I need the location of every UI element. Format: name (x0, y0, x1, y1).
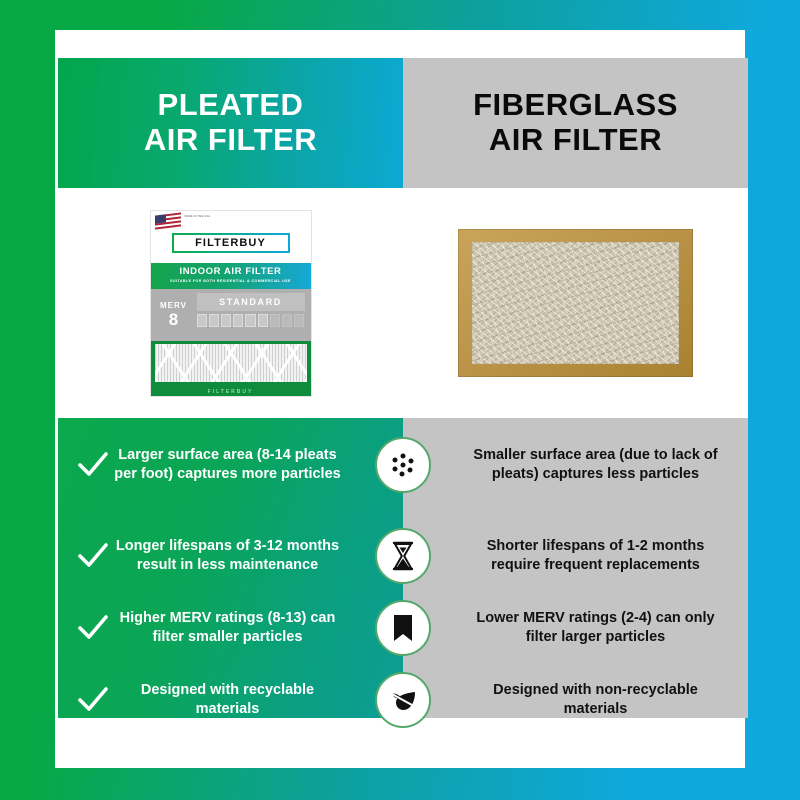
pleated-box-top: MADE IN THE USA FILTERBUY (151, 211, 311, 263)
row-left-text: Longer lifespans of 3-12 months result i… (110, 537, 345, 575)
pleated-image-cell: MADE IN THE USA FILTERBUY INDOOR AIR FIL… (58, 188, 403, 418)
usa-flag-icon (155, 212, 181, 230)
pleated-footer-brand: FILTERBUY (151, 389, 311, 395)
merv-label: MERV (160, 301, 187, 310)
particle-icon (209, 314, 219, 327)
row-right-text: Shorter lifespans of 1-2 months require … (461, 537, 730, 575)
header-fiberglass: FIBERGLASS AIR FILTER (403, 58, 748, 188)
row-left-cell: Designed with recyclable materials (58, 681, 403, 719)
particles-icon (375, 437, 431, 493)
merv-rating-block: MERV 8 (151, 289, 197, 341)
filterbuy-logo: FILTERBUY (172, 233, 290, 253)
header-pleated: PLEATED AIR FILTER (58, 58, 403, 188)
pollen-icon (233, 314, 243, 327)
pleated-capability-icons (197, 314, 305, 327)
hourglass-icon (375, 528, 431, 584)
row-right-cell: Smaller surface area (due to lack of ple… (403, 446, 748, 484)
header-fiberglass-title: FIBERGLASS AIR FILTER (473, 88, 678, 157)
made-in-usa-label: MADE IN THE USA (185, 215, 211, 219)
checkmark-icon (76, 539, 110, 573)
row-right-text: Designed with non-recyclable materials (461, 681, 730, 719)
header-pleated-line2: AIR FILTER (144, 123, 317, 158)
product-images-band: MADE IN THE USA FILTERBUY INDOOR AIR FIL… (58, 188, 748, 418)
row-left-cell: Larger surface area (8-14 pleats per foo… (58, 446, 403, 484)
pleated-media-texture (155, 344, 307, 382)
checkmark-icon (76, 448, 110, 482)
pleated-media-window: FILTERBUY (151, 341, 311, 396)
virus-icon (294, 314, 304, 327)
dust-icon (197, 314, 207, 327)
filterbuy-logo-text: FILTERBUY (195, 237, 266, 249)
merv-value: 8 (169, 311, 178, 328)
checkmark-icon (76, 683, 110, 717)
comparison-panel: Larger surface area (8-14 pleats per foo… (58, 418, 748, 718)
comparison-rows: Larger surface area (8-14 pleats per foo… (58, 418, 748, 718)
pet-dander-icon (258, 314, 268, 327)
fiberglass-media-texture (472, 242, 679, 364)
row-right-text: Smaller surface area (due to lack of ple… (461, 446, 730, 484)
gear-icon (221, 314, 231, 327)
pleated-grade-block: STANDARD (197, 289, 311, 341)
header-fiberglass-line1: FIBERGLASS (473, 88, 678, 123)
row-right-cell: Shorter lifespans of 1-2 months require … (403, 537, 748, 575)
row-left-text: Larger surface area (8-14 pleats per foo… (110, 446, 345, 484)
header-fiberglass-line2: AIR FILTER (473, 123, 678, 158)
fiberglass-filter-image (458, 229, 693, 377)
checkmark-icon (76, 611, 110, 645)
pleated-filter-image: MADE IN THE USA FILTERBUY INDOOR AIR FIL… (151, 211, 311, 396)
row-left-cell: Higher MERV ratings (8-13) can filter sm… (58, 609, 403, 647)
pleated-spec-strip: MERV 8 STANDARD (151, 289, 311, 341)
mold-icon (245, 314, 255, 327)
row-left-cell: Longer lifespans of 3-12 months result i… (58, 537, 403, 575)
pleated-grade-label: STANDARD (197, 293, 305, 311)
pleated-banner: INDOOR AIR FILTER SUITABLE FOR BOTH RESI… (151, 263, 311, 289)
fiberglass-image-cell (403, 188, 748, 418)
header-pleated-title: PLEATED AIR FILTER (144, 88, 317, 157)
pleated-banner-sub: SUITABLE FOR BOTH RESIDENTIAL & COMMERCI… (151, 279, 311, 283)
bacteria-icon (270, 314, 280, 327)
row-left-text: Higher MERV ratings (8-13) can filter sm… (110, 609, 345, 647)
pleated-banner-title: INDOOR AIR FILTER (151, 266, 311, 277)
bookmark-icon (375, 600, 431, 656)
header-pleated-line1: PLEATED (144, 88, 317, 123)
row-right-cell: Designed with non-recyclable materials (403, 681, 748, 719)
smoke-icon (282, 314, 292, 327)
row-right-text: Lower MERV ratings (2-4) can only filter… (461, 609, 730, 647)
row-right-cell: Lower MERV ratings (2-4) can only filter… (403, 609, 748, 647)
leaf-icon (375, 672, 431, 728)
header-bars: PLEATED AIR FILTER FIBERGLASS AIR FILTER (58, 58, 748, 188)
row-left-text: Designed with recyclable materials (110, 681, 345, 719)
